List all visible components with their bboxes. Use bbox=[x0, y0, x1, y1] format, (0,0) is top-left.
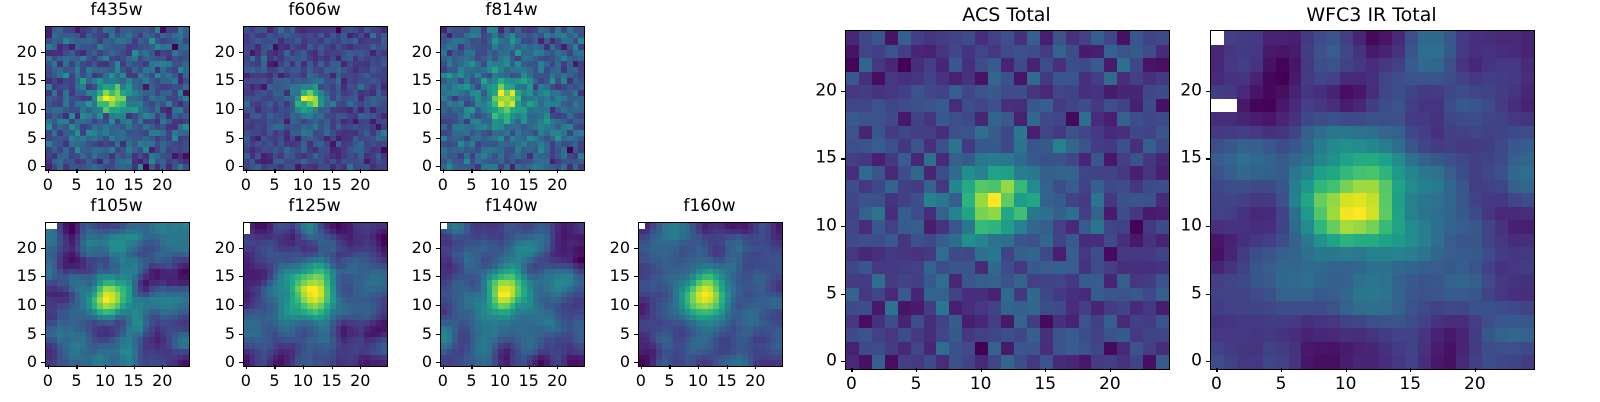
x-tick-f814w-20 bbox=[557, 169, 558, 173]
x-ticklabel-f140w-15: 15 bbox=[518, 373, 538, 389]
x-tick-f160w-10 bbox=[698, 365, 699, 369]
x-tick-wfc3-ir-total-20 bbox=[1475, 368, 1476, 372]
y-ticklabel-f105w-10: 10 bbox=[5, 297, 37, 313]
y-ticklabel-f160w-5: 5 bbox=[598, 326, 630, 342]
panel-f814w: f814w0055101015152020 bbox=[400, 0, 583, 203]
x-ticklabel-f125w-15: 15 bbox=[321, 373, 341, 389]
panel-f105w: f105w0055101015152020 bbox=[5, 196, 188, 399]
y-tick-acs-total-20 bbox=[841, 91, 845, 92]
panel-title-f125w: f125w bbox=[243, 198, 386, 215]
y-ticklabel-wfc3-ir-total-20: 20 bbox=[1170, 82, 1202, 99]
panel-title-f105w: f105w bbox=[45, 198, 188, 215]
x-tick-f814w-10 bbox=[500, 169, 501, 173]
x-ticklabel-acs-total-0: 0 bbox=[846, 376, 857, 393]
x-tick-f105w-15 bbox=[134, 365, 135, 369]
panel-f606w: f606w0055101015152020 bbox=[203, 0, 386, 203]
heatmap-wfc3-ir-total bbox=[1211, 31, 1534, 369]
y-tick-f160w-10 bbox=[634, 305, 638, 306]
y-tick-f105w-0 bbox=[41, 362, 45, 363]
y-tick-f125w-15 bbox=[239, 276, 243, 277]
y-ticklabel-f140w-5: 5 bbox=[400, 326, 432, 342]
y-ticklabel-f814w-0: 0 bbox=[400, 158, 432, 174]
x-ticklabel-f606w-5: 5 bbox=[269, 177, 279, 193]
y-ticklabel-f105w-0: 0 bbox=[5, 354, 37, 370]
x-tick-f140w-5 bbox=[471, 365, 472, 369]
x-ticklabel-f814w-0: 0 bbox=[438, 177, 448, 193]
x-tick-f160w-0 bbox=[641, 365, 642, 369]
y-ticklabel-f105w-20: 20 bbox=[5, 240, 37, 256]
x-ticklabel-f606w-15: 15 bbox=[321, 177, 341, 193]
y-tick-wfc3-ir-total-20 bbox=[1206, 91, 1210, 92]
y-tick-f125w-10 bbox=[239, 305, 243, 306]
x-tick-f125w-10 bbox=[303, 365, 304, 369]
y-ticklabel-f814w-15: 15 bbox=[400, 72, 432, 88]
x-tick-f140w-0 bbox=[443, 365, 444, 369]
axes-f160w bbox=[638, 222, 783, 367]
x-ticklabel-acs-total-10: 10 bbox=[970, 376, 992, 393]
y-ticklabel-f140w-15: 15 bbox=[400, 268, 432, 284]
x-ticklabel-wfc3-ir-total-10: 10 bbox=[1335, 376, 1357, 393]
x-ticklabel-f105w-5: 5 bbox=[71, 373, 81, 389]
figure-canvas: f435w0055101015152020f606w00551010151520… bbox=[0, 0, 1600, 400]
x-ticklabel-f435w-5: 5 bbox=[71, 177, 81, 193]
x-ticklabel-f435w-10: 10 bbox=[95, 177, 115, 193]
x-ticklabel-f814w-10: 10 bbox=[490, 177, 510, 193]
y-ticklabel-f160w-15: 15 bbox=[598, 268, 630, 284]
x-tick-f814w-5 bbox=[471, 169, 472, 173]
x-tick-f606w-10 bbox=[303, 169, 304, 173]
y-tick-acs-total-10 bbox=[841, 226, 845, 227]
x-tick-f814w-0 bbox=[443, 169, 444, 173]
y-ticklabel-f814w-20: 20 bbox=[400, 44, 432, 60]
x-ticklabel-f435w-0: 0 bbox=[43, 177, 53, 193]
y-ticklabel-f160w-0: 0 bbox=[598, 354, 630, 370]
y-tick-f160w-5 bbox=[634, 334, 638, 335]
x-tick-f125w-0 bbox=[246, 365, 247, 369]
y-tick-f160w-0 bbox=[634, 362, 638, 363]
y-ticklabel-f125w-20: 20 bbox=[203, 240, 235, 256]
x-ticklabel-f606w-0: 0 bbox=[241, 177, 251, 193]
x-ticklabel-f160w-0: 0 bbox=[636, 373, 646, 389]
y-ticklabel-f606w-10: 10 bbox=[203, 101, 235, 117]
y-tick-f140w-20 bbox=[436, 248, 440, 249]
y-tick-f814w-5 bbox=[436, 138, 440, 139]
x-ticklabel-wfc3-ir-total-20: 20 bbox=[1464, 376, 1486, 393]
y-ticklabel-f435w-5: 5 bbox=[5, 130, 37, 146]
x-tick-acs-total-15 bbox=[1045, 368, 1046, 372]
y-ticklabel-f606w-20: 20 bbox=[203, 44, 235, 60]
heatmap-f105w bbox=[46, 223, 189, 366]
y-tick-wfc3-ir-total-0 bbox=[1206, 361, 1210, 362]
y-ticklabel-f125w-15: 15 bbox=[203, 268, 235, 284]
x-tick-f606w-20 bbox=[360, 169, 361, 173]
y-ticklabel-f814w-5: 5 bbox=[400, 130, 432, 146]
panel-acs-total: ACS Total0055101015152020 bbox=[805, 4, 1168, 402]
x-ticklabel-f140w-0: 0 bbox=[438, 373, 448, 389]
panel-wfc3-ir-total: WFC3 IR Total0055101015152020 bbox=[1170, 4, 1533, 402]
y-tick-f814w-0 bbox=[436, 166, 440, 167]
x-ticklabel-f140w-5: 5 bbox=[466, 373, 476, 389]
axes-f105w bbox=[45, 222, 190, 367]
panel-title-f160w: f160w bbox=[638, 198, 781, 215]
y-ticklabel-f435w-15: 15 bbox=[5, 72, 37, 88]
x-ticklabel-f435w-20: 20 bbox=[152, 177, 172, 193]
panel-f125w: f125w0055101015152020 bbox=[203, 196, 386, 399]
axes-f814w bbox=[440, 26, 585, 171]
x-tick-acs-total-10 bbox=[981, 368, 982, 372]
y-tick-f105w-15 bbox=[41, 276, 45, 277]
x-tick-wfc3-ir-total-5 bbox=[1281, 368, 1282, 372]
x-tick-f140w-10 bbox=[500, 365, 501, 369]
y-tick-f606w-10 bbox=[239, 109, 243, 110]
y-tick-f435w-15 bbox=[41, 80, 45, 81]
y-tick-acs-total-0 bbox=[841, 361, 845, 362]
x-tick-f105w-10 bbox=[105, 365, 106, 369]
y-tick-acs-total-15 bbox=[841, 158, 845, 159]
y-ticklabel-f435w-0: 0 bbox=[5, 158, 37, 174]
y-ticklabel-f160w-10: 10 bbox=[598, 297, 630, 313]
y-tick-f140w-0 bbox=[436, 362, 440, 363]
panel-title-wfc3-ir-total: WFC3 IR Total bbox=[1210, 6, 1533, 25]
y-tick-f125w-20 bbox=[239, 248, 243, 249]
panel-title-f435w: f435w bbox=[45, 2, 188, 19]
x-tick-f435w-0 bbox=[48, 169, 49, 173]
y-tick-f814w-20 bbox=[436, 52, 440, 53]
panel-f160w: f160w0055101015152020 bbox=[598, 196, 781, 399]
x-tick-f606w-15 bbox=[332, 169, 333, 173]
x-ticklabel-f814w-20: 20 bbox=[547, 177, 567, 193]
y-tick-f606w-20 bbox=[239, 52, 243, 53]
axes-acs-total bbox=[845, 30, 1170, 370]
x-ticklabel-acs-total-5: 5 bbox=[911, 376, 922, 393]
y-ticklabel-f125w-0: 0 bbox=[203, 354, 235, 370]
x-ticklabel-f160w-15: 15 bbox=[716, 373, 736, 389]
heatmap-f606w bbox=[244, 27, 387, 170]
y-tick-f160w-20 bbox=[634, 248, 638, 249]
x-tick-f814w-15 bbox=[529, 169, 530, 173]
y-tick-f435w-10 bbox=[41, 109, 45, 110]
y-ticklabel-f435w-20: 20 bbox=[5, 44, 37, 60]
x-ticklabel-wfc3-ir-total-0: 0 bbox=[1211, 376, 1222, 393]
x-tick-f160w-20 bbox=[755, 365, 756, 369]
y-ticklabel-f606w-0: 0 bbox=[203, 158, 235, 174]
panel-f140w: f140w0055101015152020 bbox=[400, 196, 583, 399]
y-ticklabel-f140w-20: 20 bbox=[400, 240, 432, 256]
y-ticklabel-wfc3-ir-total-10: 10 bbox=[1170, 218, 1202, 235]
heatmap-f160w bbox=[639, 223, 782, 366]
x-tick-f160w-5 bbox=[669, 365, 670, 369]
y-tick-acs-total-5 bbox=[841, 294, 845, 295]
axes-f125w bbox=[243, 222, 388, 367]
y-tick-f105w-20 bbox=[41, 248, 45, 249]
x-ticklabel-f606w-20: 20 bbox=[350, 177, 370, 193]
x-tick-f105w-0 bbox=[48, 365, 49, 369]
x-ticklabel-acs-total-20: 20 bbox=[1099, 376, 1121, 393]
y-tick-f814w-15 bbox=[436, 80, 440, 81]
heatmap-acs-total bbox=[846, 31, 1169, 369]
y-ticklabel-acs-total-15: 15 bbox=[805, 150, 837, 167]
x-ticklabel-f125w-5: 5 bbox=[269, 373, 279, 389]
x-ticklabel-f105w-10: 10 bbox=[95, 373, 115, 389]
x-tick-acs-total-0 bbox=[851, 368, 852, 372]
x-tick-acs-total-20 bbox=[1110, 368, 1111, 372]
x-ticklabel-f140w-10: 10 bbox=[490, 373, 510, 389]
x-tick-f606w-5 bbox=[274, 169, 275, 173]
x-tick-f105w-5 bbox=[76, 365, 77, 369]
y-tick-f125w-0 bbox=[239, 362, 243, 363]
x-ticklabel-f125w-0: 0 bbox=[241, 373, 251, 389]
y-tick-wfc3-ir-total-15 bbox=[1206, 158, 1210, 159]
y-tick-f140w-10 bbox=[436, 305, 440, 306]
x-tick-f160w-15 bbox=[727, 365, 728, 369]
x-ticklabel-f125w-20: 20 bbox=[350, 373, 370, 389]
x-tick-f606w-0 bbox=[246, 169, 247, 173]
x-ticklabel-f140w-20: 20 bbox=[547, 373, 567, 389]
x-ticklabel-wfc3-ir-total-15: 15 bbox=[1399, 376, 1421, 393]
x-tick-f125w-15 bbox=[332, 365, 333, 369]
y-tick-f435w-5 bbox=[41, 138, 45, 139]
y-ticklabel-f606w-5: 5 bbox=[203, 130, 235, 146]
y-ticklabel-wfc3-ir-total-0: 0 bbox=[1170, 353, 1202, 370]
x-ticklabel-f105w-20: 20 bbox=[152, 373, 172, 389]
y-tick-f606w-15 bbox=[239, 80, 243, 81]
x-tick-wfc3-ir-total-0 bbox=[1216, 368, 1217, 372]
y-tick-f160w-15 bbox=[634, 276, 638, 277]
y-tick-f435w-0 bbox=[41, 166, 45, 167]
y-tick-wfc3-ir-total-5 bbox=[1206, 294, 1210, 295]
x-ticklabel-acs-total-15: 15 bbox=[1034, 376, 1056, 393]
panel-title-f606w: f606w bbox=[243, 2, 386, 19]
axes-f140w bbox=[440, 222, 585, 367]
x-tick-f435w-20 bbox=[162, 169, 163, 173]
x-ticklabel-f814w-15: 15 bbox=[518, 177, 538, 193]
x-tick-f435w-10 bbox=[105, 169, 106, 173]
y-ticklabel-f125w-5: 5 bbox=[203, 326, 235, 342]
y-ticklabel-f160w-20: 20 bbox=[598, 240, 630, 256]
axes-f435w bbox=[45, 26, 190, 171]
panel-f435w: f435w0055101015152020 bbox=[5, 0, 188, 203]
y-ticklabel-f125w-10: 10 bbox=[203, 297, 235, 313]
panel-title-f814w: f814w bbox=[440, 2, 583, 19]
y-ticklabel-acs-total-0: 0 bbox=[805, 353, 837, 370]
y-ticklabel-wfc3-ir-total-5: 5 bbox=[1170, 285, 1202, 302]
axes-wfc3-ir-total bbox=[1210, 30, 1535, 370]
y-tick-f435w-20 bbox=[41, 52, 45, 53]
y-tick-f140w-15 bbox=[436, 276, 440, 277]
y-tick-f125w-5 bbox=[239, 334, 243, 335]
heatmap-f435w bbox=[46, 27, 189, 170]
x-tick-f435w-15 bbox=[134, 169, 135, 173]
x-tick-f105w-20 bbox=[162, 365, 163, 369]
x-ticklabel-f160w-10: 10 bbox=[688, 373, 708, 389]
x-ticklabel-f435w-15: 15 bbox=[123, 177, 143, 193]
heatmap-f140w bbox=[441, 223, 584, 366]
x-ticklabel-f160w-20: 20 bbox=[745, 373, 765, 389]
y-tick-f606w-0 bbox=[239, 166, 243, 167]
y-ticklabel-wfc3-ir-total-15: 15 bbox=[1170, 150, 1202, 167]
y-ticklabel-acs-total-10: 10 bbox=[805, 218, 837, 235]
x-ticklabel-f814w-5: 5 bbox=[466, 177, 476, 193]
y-ticklabel-f105w-5: 5 bbox=[5, 326, 37, 342]
x-tick-wfc3-ir-total-15 bbox=[1410, 368, 1411, 372]
y-ticklabel-acs-total-5: 5 bbox=[805, 285, 837, 302]
heatmap-f125w bbox=[244, 223, 387, 366]
y-tick-f105w-5 bbox=[41, 334, 45, 335]
x-ticklabel-wfc3-ir-total-5: 5 bbox=[1276, 376, 1287, 393]
axes-f606w bbox=[243, 26, 388, 171]
x-tick-f140w-15 bbox=[529, 365, 530, 369]
y-tick-f105w-10 bbox=[41, 305, 45, 306]
heatmap-f814w bbox=[441, 27, 584, 170]
x-tick-acs-total-5 bbox=[916, 368, 917, 372]
x-tick-f435w-5 bbox=[76, 169, 77, 173]
y-ticklabel-acs-total-20: 20 bbox=[805, 82, 837, 99]
x-tick-f140w-20 bbox=[557, 365, 558, 369]
x-ticklabel-f105w-0: 0 bbox=[43, 373, 53, 389]
x-ticklabel-f105w-15: 15 bbox=[123, 373, 143, 389]
x-ticklabel-f160w-5: 5 bbox=[664, 373, 674, 389]
y-ticklabel-f140w-0: 0 bbox=[400, 354, 432, 370]
panel-title-acs-total: ACS Total bbox=[845, 6, 1168, 25]
x-tick-f125w-20 bbox=[360, 365, 361, 369]
y-ticklabel-f105w-15: 15 bbox=[5, 268, 37, 284]
y-ticklabel-f140w-10: 10 bbox=[400, 297, 432, 313]
panel-title-f140w: f140w bbox=[440, 198, 583, 215]
y-tick-f814w-10 bbox=[436, 109, 440, 110]
y-tick-f140w-5 bbox=[436, 334, 440, 335]
y-ticklabel-f606w-15: 15 bbox=[203, 72, 235, 88]
y-ticklabel-f435w-10: 10 bbox=[5, 101, 37, 117]
x-ticklabel-f125w-10: 10 bbox=[293, 373, 313, 389]
x-tick-f125w-5 bbox=[274, 365, 275, 369]
y-tick-f606w-5 bbox=[239, 138, 243, 139]
x-ticklabel-f606w-10: 10 bbox=[293, 177, 313, 193]
y-tick-wfc3-ir-total-10 bbox=[1206, 226, 1210, 227]
y-ticklabel-f814w-10: 10 bbox=[400, 101, 432, 117]
x-tick-wfc3-ir-total-10 bbox=[1346, 368, 1347, 372]
